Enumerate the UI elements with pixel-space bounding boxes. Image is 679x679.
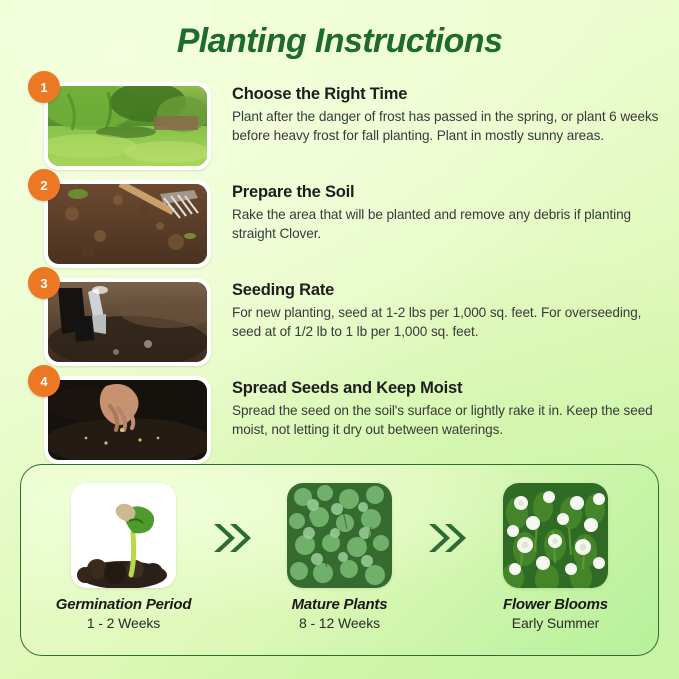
step-title-4: Spread Seeds and Keep Moist xyxy=(232,379,664,398)
step-thumbnail-frame-2: 2 xyxy=(44,180,211,268)
timeline-duration-mature: 8 - 12 Weeks xyxy=(259,615,420,631)
timeline-label-germination: Germination Period xyxy=(43,596,204,613)
step-thumbnail-frame-1: 1 xyxy=(44,82,211,170)
step-image-4 xyxy=(48,380,207,460)
step-item-2: 2 xyxy=(0,180,679,268)
step-number-badge-1: 1 xyxy=(28,71,60,103)
timeline-duration-bloom: Early Summer xyxy=(475,615,636,631)
step-item-4: 4 Spread Seeds and K xyxy=(0,376,679,464)
step-text-1: Choose the Right Time Plant after the da… xyxy=(232,82,664,146)
step-body-4: Spread the seed on the soil's surface or… xyxy=(232,401,664,440)
steps-list: 1 xyxy=(0,82,679,474)
timeline-duration-germination: 1 - 2 Weeks xyxy=(43,615,204,631)
step-body-2: Rake the area that will be planted and r… xyxy=(232,205,664,244)
step-image-3 xyxy=(48,282,207,362)
step-image-1 xyxy=(48,86,207,166)
double-chevron-right-icon-1 xyxy=(204,483,259,555)
timeline-stage-germination: Germination Period 1 - 2 Weeks xyxy=(43,483,204,631)
step-text-3: Seeding Rate For new planting, seed at 1… xyxy=(232,278,664,342)
step-number-badge-2: 2 xyxy=(28,169,60,201)
step-body-1: Plant after the danger of frost has pass… xyxy=(232,107,664,146)
step-thumbnail-frame-3: 3 xyxy=(44,278,211,366)
step-number-badge-4: 4 xyxy=(28,365,60,397)
step-item-3: 3 xyxy=(0,278,679,366)
step-number-badge-3: 3 xyxy=(28,267,60,299)
step-image-2 xyxy=(48,184,207,264)
step-title-2: Prepare the Soil xyxy=(232,183,664,202)
timeline-image-mature xyxy=(287,483,392,588)
step-text-4: Spread Seeds and Keep Moist Spread the s… xyxy=(232,376,664,440)
timeline-label-mature: Mature Plants xyxy=(259,596,420,613)
timeline-image-bloom xyxy=(503,483,608,588)
step-thumbnail-frame-4: 4 xyxy=(44,376,211,464)
timeline-image-germination xyxy=(71,483,176,588)
step-title-3: Seeding Rate xyxy=(232,281,664,300)
double-chevron-right-icon-2 xyxy=(420,483,475,555)
timeline-label-bloom: Flower Blooms xyxy=(475,596,636,613)
step-item-1: 1 xyxy=(0,82,679,170)
step-text-2: Prepare the Soil Rake the area that will… xyxy=(232,180,664,244)
timeline-stage-bloom: Flower Blooms Early Summer xyxy=(475,483,636,631)
page-title: Planting Instructions xyxy=(0,22,679,61)
step-body-3: For new planting, seed at 1-2 lbs per 1,… xyxy=(232,303,664,342)
step-title-1: Choose the Right Time xyxy=(232,85,664,104)
growth-timeline-panel: Germination Period 1 - 2 Weeks xyxy=(20,464,659,656)
timeline-stage-mature: Mature Plants 8 - 12 Weeks xyxy=(259,483,420,631)
